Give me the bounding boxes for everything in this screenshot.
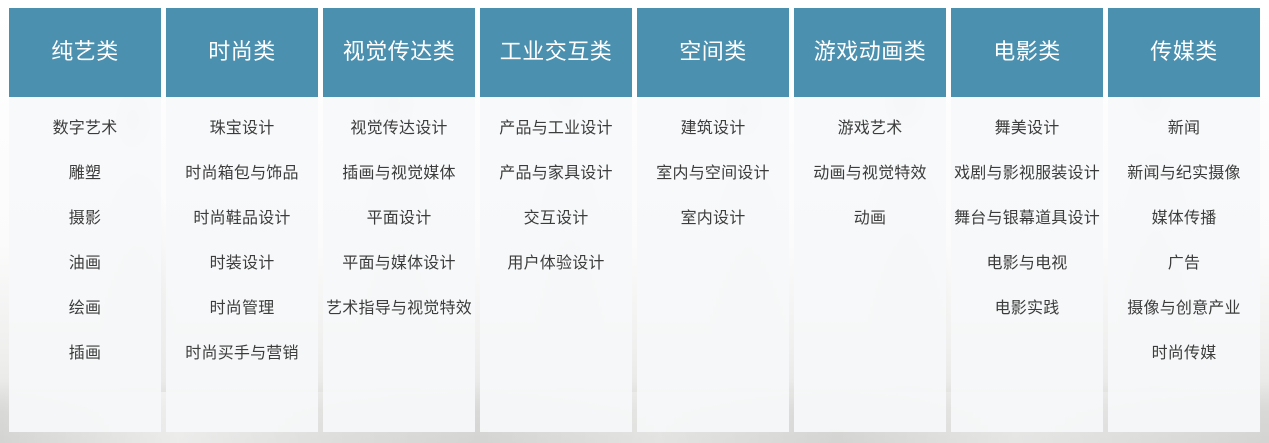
category-column-media[interactable]: 传媒类 新闻 新闻与纪实摄像 媒体传播 广告 摄像与创意产业 时尚传媒 xyxy=(1108,8,1260,432)
major-item[interactable]: 动画与视觉特效 xyxy=(796,162,944,186)
major-item[interactable]: 室内与空间设计 xyxy=(639,162,787,186)
category-column-game-animation[interactable]: 游戏动画类 游戏艺术 动画与视觉特效 动画 xyxy=(794,8,946,432)
category-title: 电影类 xyxy=(993,40,1061,64)
major-item[interactable]: 摄像与创意产业 xyxy=(1110,297,1258,321)
major-list-industrial-interaction: 产品与工业设计 产品与家具设计 交互设计 用户体验设计 xyxy=(480,97,632,432)
major-item[interactable]: 媒体传播 xyxy=(1110,207,1258,231)
major-item[interactable]: 插画与视觉媒体 xyxy=(325,162,473,186)
category-title: 纯艺类 xyxy=(51,40,119,64)
category-header-media: 传媒类 xyxy=(1108,8,1260,97)
major-item[interactable]: 插画 xyxy=(11,342,159,366)
major-item[interactable]: 时尚管理 xyxy=(168,297,316,321)
major-list-space: 建筑设计 室内与空间设计 室内设计 xyxy=(637,97,789,432)
major-item[interactable]: 建筑设计 xyxy=(639,117,787,141)
major-item[interactable]: 产品与家具设计 xyxy=(482,162,630,186)
category-column-industrial-interaction[interactable]: 工业交互类 产品与工业设计 产品与家具设计 交互设计 用户体验设计 xyxy=(480,8,632,432)
major-item[interactable]: 电影实践 xyxy=(953,297,1101,321)
major-item[interactable]: 广告 xyxy=(1110,252,1258,276)
major-item[interactable]: 电影与电视 xyxy=(953,252,1101,276)
category-title: 时尚类 xyxy=(208,40,276,64)
category-header-industrial-interaction: 工业交互类 xyxy=(480,8,632,97)
category-header-visual-communication: 视觉传达类 xyxy=(323,8,475,97)
major-list-fashion: 珠宝设计 时尚箱包与饰品 时尚鞋品设计 时装设计 时尚管理 时尚买手与营销 xyxy=(166,97,318,432)
category-header-game-animation: 游戏动画类 xyxy=(794,8,946,97)
major-item[interactable]: 视觉传达设计 xyxy=(325,117,473,141)
major-item[interactable]: 雕塑 xyxy=(11,162,159,186)
category-title: 传媒类 xyxy=(1150,40,1218,64)
major-list-game-animation: 游戏艺术 动画与视觉特效 动画 xyxy=(794,97,946,432)
major-item[interactable]: 绘画 xyxy=(11,297,159,321)
category-header-fashion: 时尚类 xyxy=(166,8,318,97)
major-item[interactable]: 室内设计 xyxy=(639,207,787,231)
category-title: 空间类 xyxy=(679,40,747,64)
major-item[interactable]: 时尚鞋品设计 xyxy=(168,207,316,231)
major-item[interactable]: 戏剧与影视服装设计 xyxy=(953,162,1101,186)
major-item[interactable]: 时尚箱包与饰品 xyxy=(168,162,316,186)
category-header-space: 空间类 xyxy=(637,8,789,97)
major-list-visual-communication: 视觉传达设计 插画与视觉媒体 平面设计 平面与媒体设计 艺术指导与视觉特效 xyxy=(323,97,475,432)
major-list-fine-art: 数字艺术 雕塑 摄影 油画 绘画 插画 xyxy=(9,97,161,432)
major-item[interactable]: 平面与媒体设计 xyxy=(325,252,473,276)
major-item[interactable]: 数字艺术 xyxy=(11,117,159,141)
category-column-fine-art[interactable]: 纯艺类 数字艺术 雕塑 摄影 油画 绘画 插画 xyxy=(9,8,161,432)
major-item[interactable]: 产品与工业设计 xyxy=(482,117,630,141)
major-item[interactable]: 用户体验设计 xyxy=(482,252,630,276)
major-item[interactable]: 珠宝设计 xyxy=(168,117,316,141)
major-item[interactable]: 时装设计 xyxy=(168,252,316,276)
category-column-fashion[interactable]: 时尚类 珠宝设计 时尚箱包与饰品 时尚鞋品设计 时装设计 时尚管理 时尚买手与营… xyxy=(166,8,318,432)
category-title: 工业交互类 xyxy=(500,40,613,64)
category-title: 游戏动画类 xyxy=(814,40,927,64)
major-list-media: 新闻 新闻与纪实摄像 媒体传播 广告 摄像与创意产业 时尚传媒 xyxy=(1108,97,1260,432)
major-list-film: 舞美设计 戏剧与影视服装设计 舞台与银幕道具设计 电影与电视 电影实践 xyxy=(951,97,1103,432)
major-item[interactable]: 摄影 xyxy=(11,207,159,231)
category-column-visual-communication[interactable]: 视觉传达类 视觉传达设计 插画与视觉媒体 平面设计 平面与媒体设计 艺术指导与视… xyxy=(323,8,475,432)
major-item[interactable]: 交互设计 xyxy=(482,207,630,231)
category-column-space[interactable]: 空间类 建筑设计 室内与空间设计 室内设计 xyxy=(637,8,789,432)
major-item[interactable]: 动画 xyxy=(796,207,944,231)
category-column-film[interactable]: 电影类 舞美设计 戏剧与影视服装设计 舞台与银幕道具设计 电影与电视 电影实践 xyxy=(951,8,1103,432)
major-item[interactable]: 时尚传媒 xyxy=(1110,342,1258,366)
category-title: 视觉传达类 xyxy=(343,40,456,64)
major-item[interactable]: 舞台与银幕道具设计 xyxy=(953,207,1101,231)
major-item[interactable]: 平面设计 xyxy=(325,207,473,231)
category-columns: 纯艺类 数字艺术 雕塑 摄影 油画 绘画 插画 时尚类 珠宝设计 时尚箱包与饰品… xyxy=(0,0,1269,443)
major-item[interactable]: 游戏艺术 xyxy=(796,117,944,141)
major-item[interactable]: 舞美设计 xyxy=(953,117,1101,141)
major-item[interactable]: 新闻 xyxy=(1110,117,1258,141)
major-category-table: 纯艺类 数字艺术 雕塑 摄影 油画 绘画 插画 时尚类 珠宝设计 时尚箱包与饰品… xyxy=(0,0,1269,443)
major-item[interactable]: 新闻与纪实摄像 xyxy=(1110,162,1258,186)
major-item[interactable]: 时尚买手与营销 xyxy=(168,342,316,366)
major-item[interactable]: 油画 xyxy=(11,252,159,276)
category-header-film: 电影类 xyxy=(951,8,1103,97)
category-header-fine-art: 纯艺类 xyxy=(9,8,161,97)
major-item[interactable]: 艺术指导与视觉特效 xyxy=(325,297,473,321)
